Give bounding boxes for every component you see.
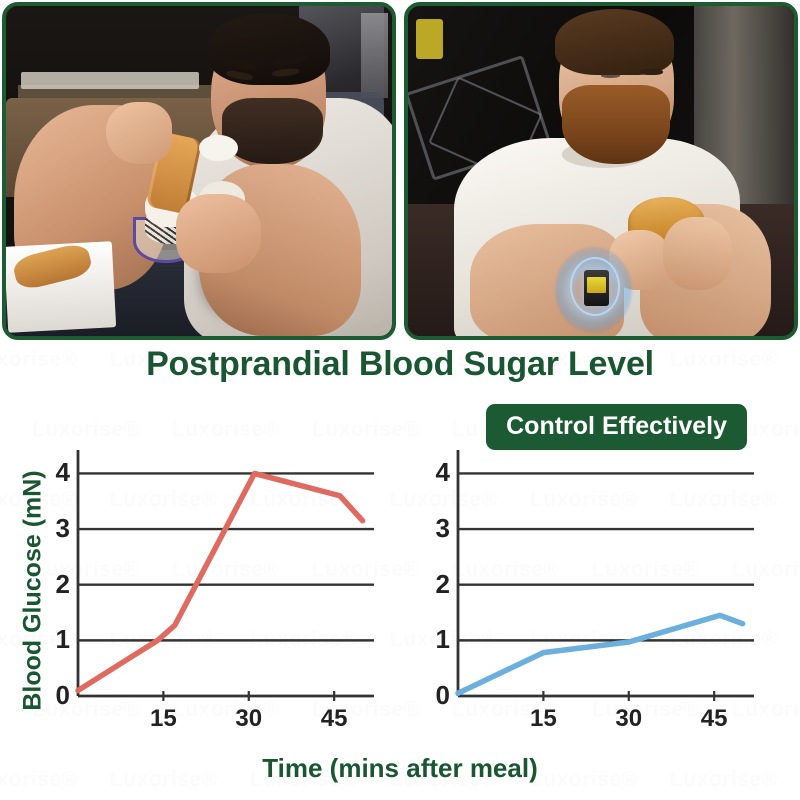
y-tick-label: 0 <box>44 680 70 711</box>
photo-b-yellow-sign <box>416 19 443 59</box>
chart-uncontrolled: 01234153045 <box>48 440 378 740</box>
photo-row <box>0 0 800 340</box>
photo-man-eating-churros <box>2 2 396 340</box>
photo-a-hand-right <box>176 194 261 273</box>
y-tick-label: 2 <box>424 569 450 600</box>
photo-b-hand-right <box>663 217 732 290</box>
y-tick-label: 3 <box>424 513 450 544</box>
chart-svg <box>428 440 758 740</box>
watermark-text: Luxorise® <box>172 418 280 442</box>
data-line <box>78 473 363 690</box>
infographic-root: Luxorise®Luxorise®Luxorise®Luxorise®Luxo… <box>0 0 800 800</box>
photo-b-beard <box>562 85 670 164</box>
photo-a-shelf-white <box>21 72 199 89</box>
charts-area: Blood Glucose (mN) 01234153045 012341530… <box>0 440 800 800</box>
photo-b-eye-right <box>640 69 663 76</box>
watermark-text: Luxorise® <box>32 418 140 442</box>
y-tick-label: 3 <box>44 513 70 544</box>
photo-a-hand-left <box>106 102 172 165</box>
data-line <box>458 615 743 693</box>
x-tick-label: 45 <box>312 705 356 733</box>
y-tick-label: 2 <box>44 569 70 600</box>
x-axis-label: Time (mins after meal) <box>0 753 800 784</box>
photo-a-cream-mouth <box>199 135 238 161</box>
y-tick-label: 0 <box>424 680 450 711</box>
y-tick-label: 1 <box>44 624 70 655</box>
photo-b-cgm-screen <box>587 277 606 294</box>
photo-b-hair <box>555 9 675 75</box>
x-tick-label: 30 <box>227 705 271 733</box>
photo-man-eating-burger-with-cgm <box>404 2 798 340</box>
photo-a-window-light <box>361 13 388 99</box>
x-tick-label: 45 <box>692 705 736 733</box>
photo-a-beard <box>222 98 322 164</box>
photo-image-right <box>408 6 794 336</box>
y-tick-label: 4 <box>44 457 70 488</box>
page-title: Postprandial Blood Sugar Level <box>0 345 800 384</box>
photo-b-eye-left <box>601 72 620 78</box>
x-tick-label: 30 <box>607 705 651 733</box>
chart-controlled: 01234153045 <box>428 440 758 740</box>
y-tick-label: 4 <box>424 457 450 488</box>
chart-svg <box>48 440 378 740</box>
x-tick-label: 15 <box>141 705 185 733</box>
y-tick-label: 1 <box>424 624 450 655</box>
x-tick-label: 15 <box>521 705 565 733</box>
watermark-text: Luxorise® <box>312 418 420 442</box>
photo-image-left <box>6 6 392 336</box>
